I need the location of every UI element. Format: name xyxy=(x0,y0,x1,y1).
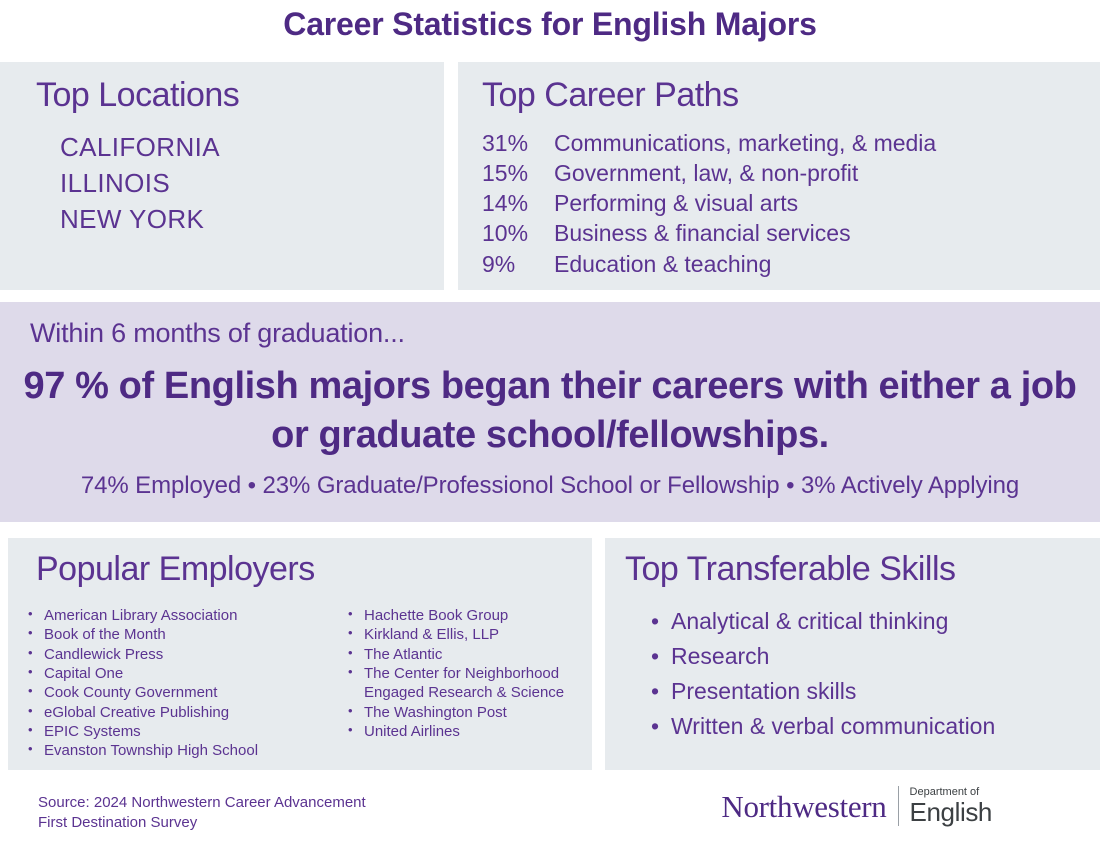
logo-unit-name: English xyxy=(910,799,992,825)
employer-item: The Center for Neighborhood xyxy=(342,664,592,683)
employer-item: Candlewick Press xyxy=(22,645,322,664)
panel-top-locations: Top Locations CALIFORNIA ILLINOIS NEW YO… xyxy=(0,62,444,290)
employer-item-continuation: Engaged Research & Science xyxy=(342,683,592,702)
employer-item: Evanston Township High School xyxy=(22,741,322,760)
career-path-row: 31% Communications, marketing, & media xyxy=(482,128,936,158)
career-path-percent: 9% xyxy=(482,249,554,279)
career-path-percent: 15% xyxy=(482,158,554,188)
employer-item: The Washington Post xyxy=(342,703,592,722)
career-path-label: Communications, marketing, & media xyxy=(554,128,936,158)
career-path-label: Business & financial services xyxy=(554,218,851,248)
skill-item: Presentation skills xyxy=(651,674,995,709)
employers-column-left: American Library Association Book of the… xyxy=(22,606,322,761)
location-item: NEW YORK xyxy=(60,202,220,238)
employer-item: Hachette Book Group xyxy=(342,606,592,625)
source-line-1: Source: 2024 Northwestern Career Advance… xyxy=(38,793,366,813)
career-path-row: 15% Government, law, & non-profit xyxy=(482,158,936,188)
infographic-root: Career Statistics for English Majors Top… xyxy=(0,0,1100,850)
outcomes-intro-text: Within 6 months of graduation... xyxy=(30,318,405,349)
top-transferable-skills-heading: Top Transferable Skills xyxy=(625,552,956,588)
outcomes-headline: 97 % of English majors began their caree… xyxy=(20,362,1080,459)
employer-item: Book of the Month xyxy=(22,625,322,644)
page-title: Career Statistics for English Majors xyxy=(0,6,1100,43)
skill-item: Analytical & critical thinking xyxy=(651,604,995,639)
popular-employers-heading: Popular Employers xyxy=(36,552,315,588)
location-item: CALIFORNIA xyxy=(60,130,220,166)
career-path-label: Government, law, & non-profit xyxy=(554,158,858,188)
career-path-percent: 31% xyxy=(482,128,554,158)
northwestern-wordmark: Northwestern xyxy=(721,791,897,822)
career-path-percent: 14% xyxy=(482,188,554,218)
employer-item: The Atlantic xyxy=(342,645,592,664)
top-career-paths-heading: Top Career Paths xyxy=(482,78,739,114)
employer-item: Cook County Government xyxy=(22,683,322,702)
employer-item: Kirkland & Ellis, LLP xyxy=(342,625,592,644)
employer-item: eGlobal Creative Publishing xyxy=(22,703,322,722)
outcomes-breakdown: 74% Employed • 23% Graduate/Professionol… xyxy=(20,472,1080,500)
employer-item: EPIC Systems xyxy=(22,722,322,741)
popular-employers-columns: American Library Association Book of the… xyxy=(22,606,582,761)
career-path-label: Performing & visual arts xyxy=(554,188,798,218)
career-path-row: 9% Education & teaching xyxy=(482,249,936,279)
skill-item: Research xyxy=(651,639,995,674)
career-path-row: 14% Performing & visual arts xyxy=(482,188,936,218)
panel-top-transferable-skills: Top Transferable Skills Analytical & cri… xyxy=(605,538,1100,770)
employer-item: United Airlines xyxy=(342,722,592,741)
logo-unit-block: Department of English xyxy=(899,787,992,825)
source-note: Source: 2024 Northwestern Career Advance… xyxy=(38,793,366,833)
top-locations-heading: Top Locations xyxy=(36,78,239,114)
northwestern-english-logo: Northwestern Department of English xyxy=(721,786,992,826)
skills-list: Analytical & critical thinking Research … xyxy=(651,604,995,744)
outcomes-highlight-band: Within 6 months of graduation... 97 % of… xyxy=(0,302,1100,522)
career-path-percent: 10% xyxy=(482,218,554,248)
career-paths-list: 31% Communications, marketing, & media 1… xyxy=(482,128,936,279)
top-locations-list: CALIFORNIA ILLINOIS NEW YORK xyxy=(60,130,220,238)
location-item: ILLINOIS xyxy=(60,166,220,202)
panel-popular-employers: Popular Employers American Library Assoc… xyxy=(8,538,592,770)
career-path-label: Education & teaching xyxy=(554,249,771,279)
career-path-row: 10% Business & financial services xyxy=(482,218,936,248)
employer-item: Capital One xyxy=(22,664,322,683)
employer-item: American Library Association xyxy=(22,606,322,625)
skill-item: Written & verbal communication xyxy=(651,709,995,744)
source-line-2: First Destination Survey xyxy=(38,813,366,833)
panel-top-career-paths: Top Career Paths 31% Communications, mar… xyxy=(458,62,1100,290)
employers-column-right: Hachette Book Group Kirkland & Ellis, LL… xyxy=(342,606,592,761)
